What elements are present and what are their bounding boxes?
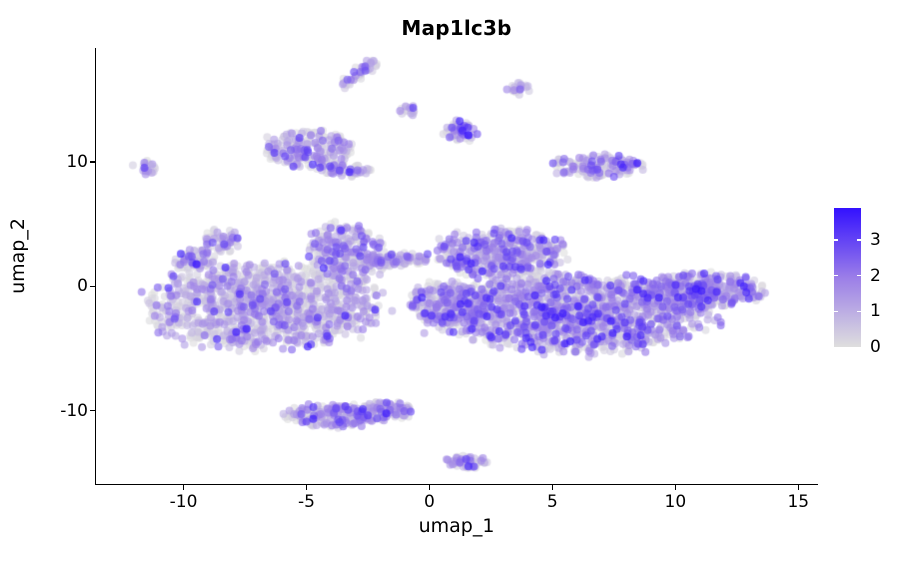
colorbar-gradient bbox=[834, 208, 861, 347]
x-tick-label: 10 bbox=[665, 492, 687, 512]
x-tick-mark bbox=[552, 485, 554, 490]
scatter-plot-canvas bbox=[96, 48, 818, 484]
x-tick-label: 0 bbox=[424, 492, 435, 512]
x-axis-label: umap_1 bbox=[95, 515, 818, 537]
colorbar-tick-label: 0 bbox=[870, 337, 881, 357]
y-tick-mark bbox=[90, 410, 95, 412]
colorbar-tick-mark bbox=[834, 239, 838, 241]
x-tick-label: 15 bbox=[787, 492, 809, 512]
x-tick-mark bbox=[183, 485, 185, 490]
x-tick-label: -5 bbox=[298, 492, 315, 512]
y-tick-mark bbox=[90, 161, 95, 163]
colorbar-tick-mark bbox=[857, 311, 861, 313]
x-tick-label: -10 bbox=[170, 492, 198, 512]
colorbar-tick-mark bbox=[834, 311, 838, 313]
x-tick-mark bbox=[429, 485, 431, 490]
plot-axes bbox=[95, 48, 818, 485]
x-tick-mark bbox=[798, 485, 800, 490]
y-tick-mark bbox=[90, 286, 95, 288]
colorbar-tick-mark bbox=[857, 275, 861, 277]
colorbar bbox=[834, 208, 861, 347]
y-tick-label: -10 bbox=[60, 401, 88, 421]
umap-figure: Map1lc3b -10-5051015 -10010 umap_1 umap_… bbox=[0, 0, 911, 562]
colorbar-tick-label: 1 bbox=[870, 301, 881, 321]
colorbar-tick-mark bbox=[834, 275, 838, 277]
y-tick-label: 0 bbox=[77, 276, 88, 296]
colorbar-tick-label: 2 bbox=[870, 266, 881, 286]
x-tick-mark bbox=[306, 485, 308, 490]
x-tick-label: 5 bbox=[547, 492, 558, 512]
y-axis-label: umap_2 bbox=[7, 176, 29, 336]
y-tick-label: 10 bbox=[66, 152, 88, 172]
colorbar-tick-label: 3 bbox=[870, 230, 881, 250]
x-tick-mark bbox=[675, 485, 677, 490]
colorbar-tick-mark bbox=[857, 239, 861, 241]
page-title: Map1lc3b bbox=[95, 16, 818, 40]
